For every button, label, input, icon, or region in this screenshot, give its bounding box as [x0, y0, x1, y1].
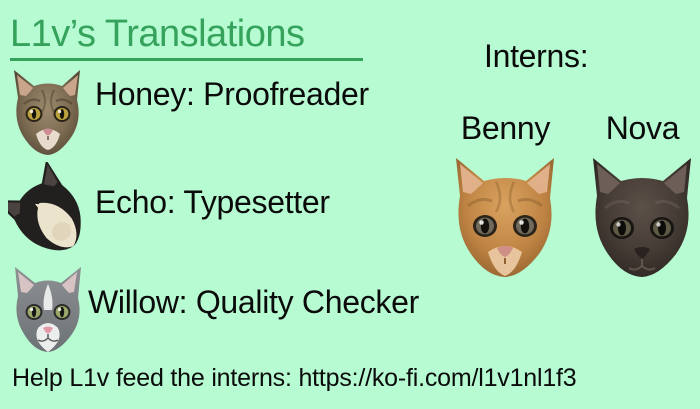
intern-block: Benny: [438, 110, 573, 285]
title-underline: [10, 58, 363, 61]
dark-grey-kitten-head-icon: [581, 148, 700, 280]
grey-white-cat-head-icon: [8, 258, 88, 358]
staff-label: Honey: Proofreader: [95, 76, 369, 112]
orange-kitten-head-icon: [444, 148, 566, 280]
intern-block: Nova: [575, 110, 700, 285]
translation-credits-card: L1v’s Translations: [0, 0, 700, 409]
staff-label: Echo: Typesetter: [95, 184, 330, 220]
tuxedo-cat-head-icon: [8, 162, 88, 262]
interns-heading: Interns:: [484, 38, 588, 74]
staff-label: Willow: Quality Checker: [88, 284, 419, 320]
intern-name: Nova: [575, 110, 700, 146]
intern-name: Benny: [438, 110, 573, 146]
footer-support-text: Help L1v feed the interns: https://ko-fi…: [12, 363, 577, 393]
page-title: L1v’s Translations: [10, 12, 304, 56]
tabby-cat-head-icon: [8, 62, 88, 162]
